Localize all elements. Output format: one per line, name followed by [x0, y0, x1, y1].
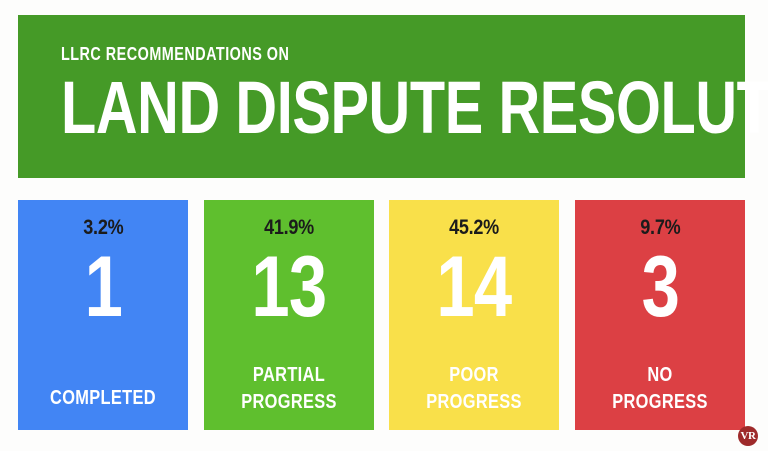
stat-count: 14: [437, 244, 512, 330]
stat-percent: 3.2%: [83, 217, 123, 238]
stat-label: COMPLETED: [33, 385, 172, 412]
stat-label: PARTIAL PROGRESS: [219, 362, 358, 416]
stat-card-poor-progress: 45.2% 14 POOR PROGRESS: [389, 200, 559, 430]
stat-card-completed: 3.2% 1 COMPLETED: [18, 200, 188, 430]
stat-cards-row: 3.2% 1 COMPLETED 41.9% 13 PARTIAL PROGRE…: [18, 200, 745, 430]
page-title: LAND DISPUTE RESOLUTION: [61, 73, 595, 143]
stat-count: 13: [251, 244, 326, 330]
header-eyebrow: LLRC RECOMMENDATIONS ON: [61, 45, 608, 63]
stat-count: 1: [84, 244, 121, 330]
stat-percent: 41.9%: [264, 217, 314, 238]
stat-label: POOR PROGRESS: [405, 362, 544, 416]
stat-label: NO PROGRESS: [590, 362, 729, 416]
stat-card-no-progress: 9.7% 3 NO PROGRESS: [575, 200, 745, 430]
stat-count: 3: [641, 244, 678, 330]
stat-percent: 45.2%: [449, 217, 499, 238]
watermark-monogram: VR: [741, 431, 756, 442]
stat-card-partial-progress: 41.9% 13 PARTIAL PROGRESS: [204, 200, 374, 430]
header-banner: LLRC RECOMMENDATIONS ON LAND DISPUTE RES…: [18, 15, 745, 178]
stat-percent: 9.7%: [640, 217, 680, 238]
infographic-canvas: LLRC RECOMMENDATIONS ON LAND DISPUTE RES…: [0, 0, 768, 451]
watermark-logo-icon: VR: [738, 426, 758, 446]
